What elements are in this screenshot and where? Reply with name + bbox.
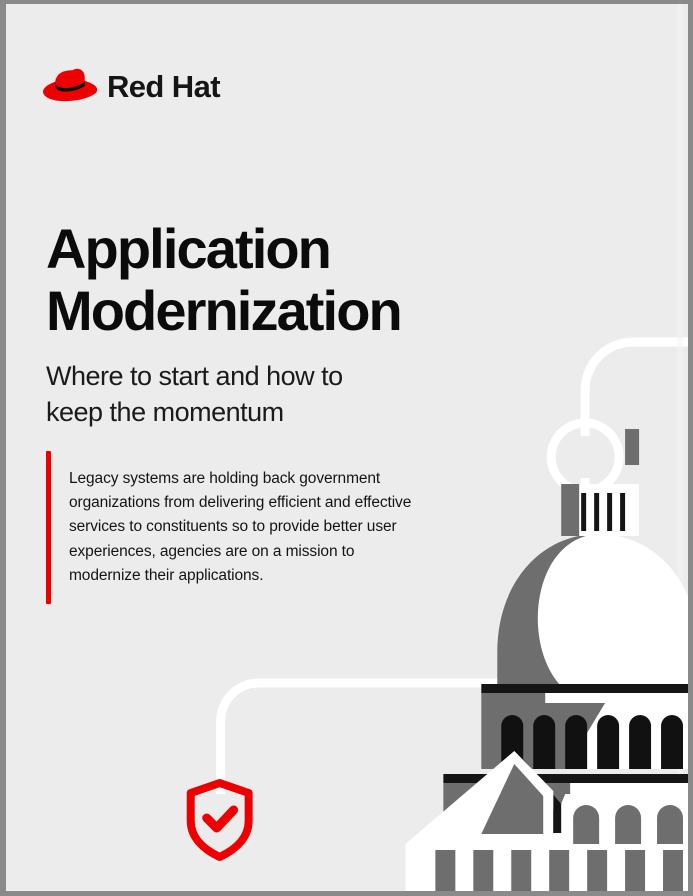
blurb-text: Legacy systems are holding back governme… — [69, 467, 426, 589]
entablature-band — [443, 783, 688, 794]
pediment-front — [405, 751, 553, 844]
pediment-dark-edge — [435, 757, 561, 833]
shield-check-glyph — [207, 810, 234, 828]
page-title: Application Modernization — [46, 218, 516, 343]
red-hat-fedora-icon — [42, 66, 98, 106]
dome-cornice-band-light — [545, 693, 688, 703]
right-edge-seam — [677, 4, 683, 891]
capitol-building-illustration — [405, 429, 688, 891]
arcade-windows — [501, 715, 683, 769]
entablature-band-light — [570, 783, 688, 794]
page-title-line-2: Modernization — [46, 280, 516, 343]
wing-columns — [573, 805, 683, 891]
pediment-ridge — [514, 751, 553, 810]
shield-outline — [191, 783, 249, 857]
dome-spire — [625, 429, 639, 465]
intro-blurb: Legacy systems are holding back governme… — [46, 451, 426, 604]
cover-illustration — [6, 4, 688, 891]
shield-check-icon — [191, 783, 249, 857]
arcade-shadow — [481, 703, 605, 769]
portico-columns — [435, 850, 683, 891]
circuit-path-lower — [221, 683, 688, 794]
page-title-line-1: Application — [46, 217, 330, 280]
dome-shadow — [497, 534, 598, 690]
dome-cornice-band — [481, 693, 688, 703]
cupola-light — [561, 484, 639, 536]
circuit-node-ring — [551, 423, 619, 491]
portico-base — [405, 844, 688, 891]
arcade-light — [481, 703, 688, 769]
cupola-window — [620, 493, 625, 531]
entablature-dark — [443, 774, 688, 783]
cupola-window — [594, 493, 599, 531]
pediment-face — [423, 754, 550, 836]
pediment-shadow — [475, 764, 545, 832]
wing-light — [443, 794, 688, 891]
pediment-face-top — [411, 752, 541, 842]
wing-shadow — [443, 794, 565, 891]
dome-cornice-dark — [481, 684, 688, 693]
red-hat-logo: Red Hat — [42, 66, 220, 106]
page-canvas: Red Hat Application Modernization Where … — [6, 4, 688, 891]
page-subtitle-line-2: keep the momentum — [46, 395, 446, 431]
dome-light — [497, 534, 688, 690]
red-hat-wordmark: Red Hat — [107, 71, 220, 102]
cupola-shadow — [561, 484, 579, 536]
pediment-inner-shadow — [481, 764, 543, 834]
cupola-window — [581, 493, 586, 531]
page-subtitle: Where to start and how to keep the momen… — [46, 359, 446, 430]
cover-page: Red Hat Application Modernization Where … — [0, 0, 693, 896]
blurb-accent-rule — [46, 451, 51, 604]
cupola-window — [607, 493, 612, 531]
page-subtitle-line-1: Where to start and how to — [46, 361, 343, 391]
circuit-path-upper — [585, 342, 688, 436]
